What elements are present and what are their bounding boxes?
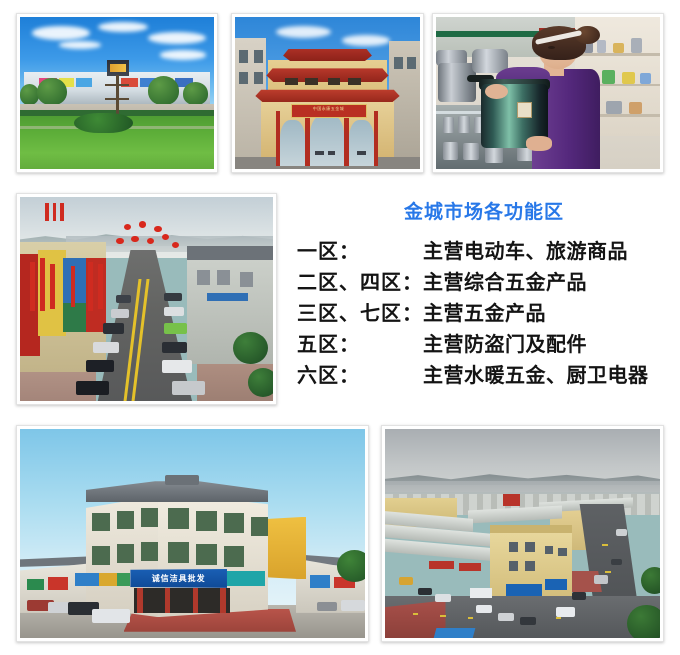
zone-description: 主营五金产品 (423, 297, 546, 326)
gate-plaque: 中国永康五金城 (291, 104, 367, 118)
shop-signboard-text: 诚信洁具批发 (152, 573, 206, 584)
zone-row: 六区： 主营水暖五金、厨卫电器 (297, 359, 678, 390)
zone-row: 二区、四区： 主营综合五金产品 (297, 266, 678, 297)
shop-signboard: 诚信洁具批发 (130, 569, 227, 588)
zone-label: 五区： (297, 328, 423, 357)
photo-market-street (16, 193, 277, 405)
functional-zones-panel: 金城市场各功能区 一区： 主营电动车、旅游商品 二区、四区： 主营综合五金产品 … (290, 193, 678, 405)
zone-description: 主营综合五金产品 (423, 266, 587, 295)
zone-label: 六区： (297, 359, 423, 388)
zone-row: 三区、七区： 主营五金产品 (297, 297, 678, 328)
zone-label: 二区、四区： (297, 266, 423, 295)
zone-description: 主营防盗门及配件 (423, 328, 587, 357)
photo-cookware-shop (432, 13, 664, 173)
zone-list: 一区： 主营电动车、旅游商品 二区、四区： 主营综合五金产品 三区、七区： 主营… (297, 235, 678, 390)
photo-archway-gate: 中国永康五金城 (231, 13, 424, 173)
photo-market-plaza (16, 13, 218, 173)
gate-plaque-text: 中国永康五金城 (292, 105, 366, 113)
zone-label: 三区、七区： (297, 297, 423, 326)
zone-row: 一区： 主营电动车、旅游商品 (297, 235, 678, 266)
photo-corner-building: 诚信洁具批发 (16, 425, 369, 642)
photo-aerial-market (381, 425, 664, 642)
panel-title: 金城市场各功能区 (290, 197, 678, 224)
zone-label: 一区： (297, 235, 423, 264)
page-root: 中国永康五金城 (0, 0, 680, 655)
zone-description: 主营电动车、旅游商品 (423, 235, 628, 264)
zone-row: 五区： 主营防盗门及配件 (297, 328, 678, 359)
zone-description: 主营水暖五金、厨卫电器 (423, 359, 649, 388)
